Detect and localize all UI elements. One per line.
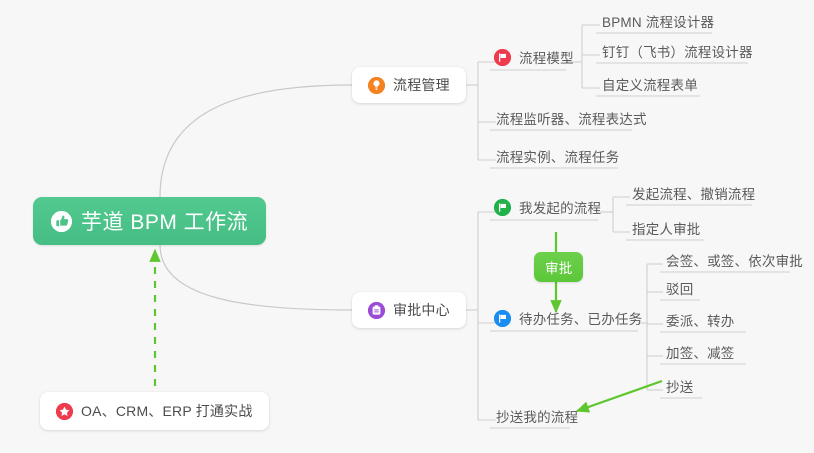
node-todo-done[interactable]: 待办任务、已办任务 bbox=[490, 305, 648, 331]
node-add-remove-sign[interactable]: 加签、减签 bbox=[660, 339, 741, 365]
node-label-cc: 抄送 bbox=[666, 376, 693, 396]
node-dingtalk-feishu-designer[interactable]: 钉钉（飞书）流程设计器 bbox=[596, 38, 759, 64]
node-custom-process-form[interactable]: 自定义流程表单 bbox=[596, 71, 704, 97]
root-label: 芋道 BPM 工作流 bbox=[81, 206, 248, 236]
node-label-process-model: 流程模型 bbox=[519, 47, 574, 67]
curve-root-to-approval-center bbox=[160, 245, 352, 310]
node-label-assignee-approval: 指定人审批 bbox=[632, 218, 701, 238]
node-label-start-cancel: 发起流程、撤销流程 bbox=[632, 183, 755, 203]
node-cc-to-me[interactable]: 抄送我的流程 bbox=[490, 403, 584, 429]
branch-node-approval-center[interactable]: 审批中心 bbox=[352, 292, 466, 328]
node-assignee-approval[interactable]: 指定人审批 bbox=[626, 215, 707, 241]
star-icon bbox=[56, 403, 73, 420]
node-label-listener-expression: 流程监听器、流程表达式 bbox=[496, 108, 647, 128]
branch-label-approval-center: 审批中心 bbox=[393, 300, 450, 320]
thumbs-up-icon bbox=[51, 211, 72, 232]
node-bpmn-designer[interactable]: BPMN 流程设计器 bbox=[596, 8, 720, 34]
node-label-delegate-transfer: 委派、转办 bbox=[666, 310, 735, 330]
flag-icon bbox=[494, 49, 511, 66]
branch-node-process-management[interactable]: 流程管理 bbox=[352, 67, 466, 103]
clipboard-icon bbox=[368, 302, 385, 319]
node-delegate-transfer[interactable]: 委派、转办 bbox=[660, 307, 741, 333]
bottom-note-card[interactable]: OA、CRM、ERP 打通实战 bbox=[40, 392, 269, 430]
node-reject[interactable]: 驳回 bbox=[660, 275, 699, 301]
flag-icon bbox=[494, 199, 511, 216]
node-label-my-initiated: 我发起的流程 bbox=[519, 197, 601, 217]
lightbulb-icon bbox=[368, 77, 385, 94]
node-countersign[interactable]: 会签、或签、依次审批 bbox=[660, 247, 809, 273]
node-label-cc-to-me: 抄送我的流程 bbox=[496, 406, 578, 426]
approval-flow-tag-label: 审批 bbox=[545, 257, 572, 277]
node-label-bpmn-designer: BPMN 流程设计器 bbox=[602, 11, 714, 31]
root-node[interactable]: 芋道 BPM 工作流 bbox=[33, 197, 266, 245]
branch-label-process-management: 流程管理 bbox=[393, 75, 450, 95]
node-process-model[interactable]: 流程模型 bbox=[490, 44, 580, 70]
node-label-custom-process-form: 自定义流程表单 bbox=[602, 74, 698, 94]
node-label-todo-done: 待办任务、已办任务 bbox=[519, 308, 642, 328]
arrow-cc-to-ccme bbox=[577, 381, 662, 411]
node-my-initiated[interactable]: 我发起的流程 bbox=[490, 194, 607, 220]
approval-flow-tag: 审批 bbox=[534, 252, 583, 282]
node-cc[interactable]: 抄送 bbox=[660, 373, 699, 399]
node-label-instance-task: 流程实例、流程任务 bbox=[496, 146, 619, 166]
node-label-dingtalk-feishu-designer: 钉钉（飞书）流程设计器 bbox=[602, 41, 753, 61]
node-label-countersign: 会签、或签、依次审批 bbox=[666, 250, 803, 270]
node-label-reject: 驳回 bbox=[666, 278, 693, 298]
node-instance-task[interactable]: 流程实例、流程任务 bbox=[490, 143, 625, 169]
node-start-cancel[interactable]: 发起流程、撤销流程 bbox=[626, 180, 761, 206]
flag-icon bbox=[494, 310, 511, 327]
node-label-add-remove-sign: 加签、减签 bbox=[666, 342, 735, 362]
mindmap-canvas: 芋道 BPM 工作流 流程管理 流程模型 BPMN 流程设计器 钉钉（飞书）流 bbox=[0, 0, 814, 453]
bottom-note-label: OA、CRM、ERP 打通实战 bbox=[81, 401, 253, 421]
curve-root-to-process-management bbox=[160, 85, 352, 197]
node-listener-expression[interactable]: 流程监听器、流程表达式 bbox=[490, 105, 653, 131]
